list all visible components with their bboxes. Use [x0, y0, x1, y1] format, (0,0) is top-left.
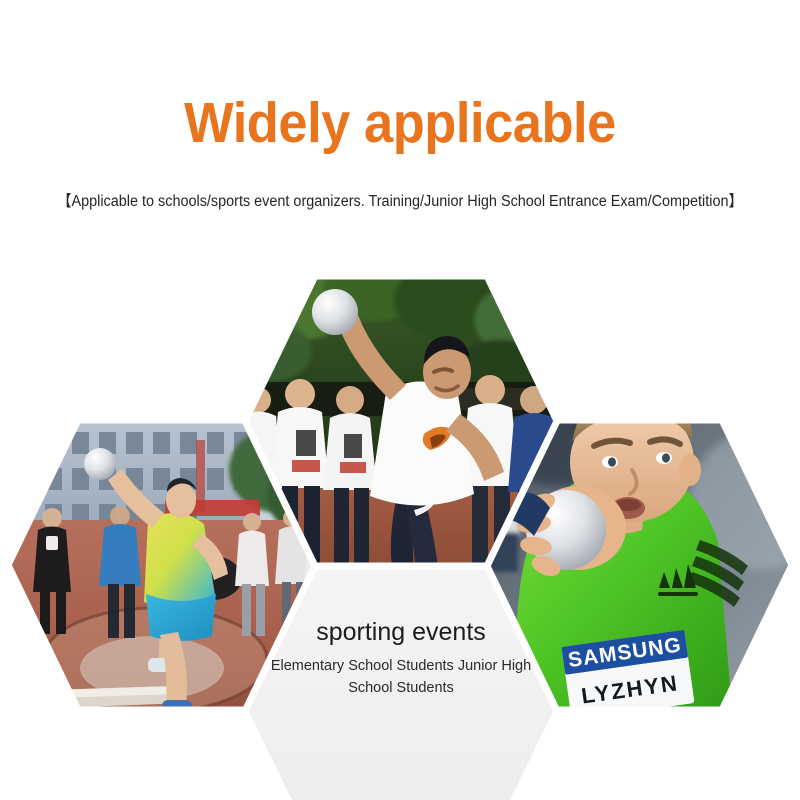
caption-subtitle-line1: Elementary School Students Junior High	[271, 658, 531, 674]
hexagon-collage: SAMSUNG LYZHYN	[0, 0, 800, 800]
page-root: Widely applicable 【Applicable to schools…	[0, 0, 800, 800]
caption-title: sporting events	[316, 618, 486, 646]
caption-subtitle-line2: School Students	[348, 680, 454, 696]
